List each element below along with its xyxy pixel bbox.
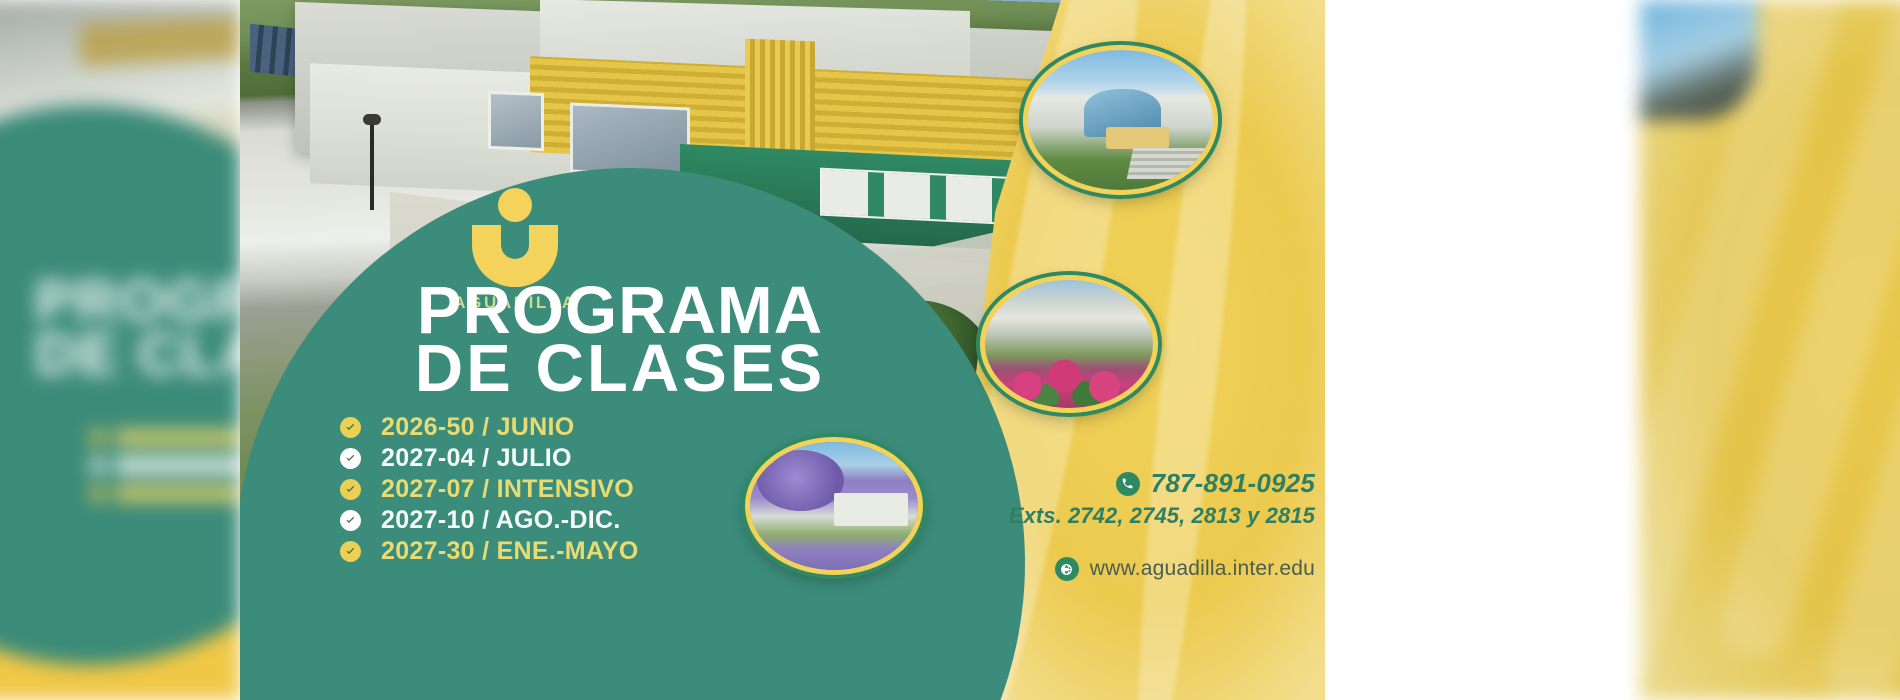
page-title: PROGRAMA DE CLASES — [280, 282, 960, 399]
phone-row[interactable]: 787-891-0925 — [895, 468, 1315, 499]
preview-check-icon — [90, 430, 105, 445]
preview-check-icon — [90, 486, 105, 501]
check-circle-icon — [340, 417, 361, 438]
building-window-large — [570, 102, 690, 177]
check-circle-icon — [340, 510, 361, 531]
preview-building-band — [80, 16, 240, 67]
page-title-line2: DE CLASES — [280, 340, 960, 398]
website-row[interactable]: www.aguadilla.inter.edu — [895, 557, 1315, 581]
check-circle-icon — [340, 541, 361, 562]
next-slide-preview[interactable] — [1640, 0, 1900, 700]
entrance-stairs — [1126, 148, 1207, 179]
term-label: 2027-30 / ENE.-MAYO — [381, 537, 639, 566]
preview-term-row — [90, 430, 240, 445]
preview-term-row — [90, 486, 240, 501]
term-label: 2027-10 / AGO.-DIC. — [381, 506, 621, 535]
phone-extensions: Exts. 2742, 2745, 2813 y 2815 — [895, 503, 1315, 529]
preview-term-bar — [115, 430, 240, 445]
phone-number: 787-891-0925 — [1151, 468, 1315, 499]
preview-title: PROGRAMA DE CLASES — [35, 275, 240, 382]
preview-title-line2: DE CLASES — [35, 328, 240, 381]
check-circle-icon — [340, 479, 361, 500]
term-label: 2027-04 / JULIO — [381, 444, 572, 473]
preview-title-line1: PROGRAMA — [35, 275, 240, 328]
light-pole — [370, 120, 374, 210]
lamp-head-icon — [363, 114, 381, 125]
check-circle-icon — [340, 448, 361, 469]
phone-icon — [1116, 472, 1140, 496]
campus-entrance-inset — [1023, 45, 1218, 195]
previous-slide-preview[interactable]: PROGRAMA DE CLASES — [0, 0, 240, 700]
term-list-item: 2026-50 / JUNIO — [340, 412, 980, 443]
term-label: 2027-07 / INTENSIVO — [381, 475, 634, 504]
building-window — [488, 91, 544, 151]
entrance-canopy — [1106, 127, 1169, 149]
current-slide-poster[interactable]: AGUADILLA PROGRAMA DE CLASES 2026-50 / J… — [240, 0, 1325, 700]
preview-term-bar — [115, 486, 240, 501]
preview-term-rows — [90, 430, 240, 514]
carousel-stage: PROGRAMA DE CLASES — [0, 0, 1900, 700]
campus-garden-inset — [980, 275, 1158, 413]
next-slide-poster — [1640, 0, 1900, 700]
preview-term-bar — [115, 458, 240, 473]
u-logo-dot-icon — [498, 188, 532, 222]
website-url: www.aguadilla.inter.edu — [1090, 557, 1315, 581]
previous-slide-poster: PROGRAMA DE CLASES — [0, 0, 240, 700]
preview-check-icon — [90, 458, 105, 473]
bougainvillea-flowers — [998, 357, 1146, 406]
globe-icon — [1055, 557, 1079, 581]
preview-term-row — [90, 458, 240, 473]
term-label: 2026-50 / JUNIO — [381, 413, 575, 442]
jacaranda-tree — [757, 450, 844, 511]
contact-block: 787-891-0925 Exts. 2742, 2745, 2813 y 28… — [895, 468, 1315, 581]
